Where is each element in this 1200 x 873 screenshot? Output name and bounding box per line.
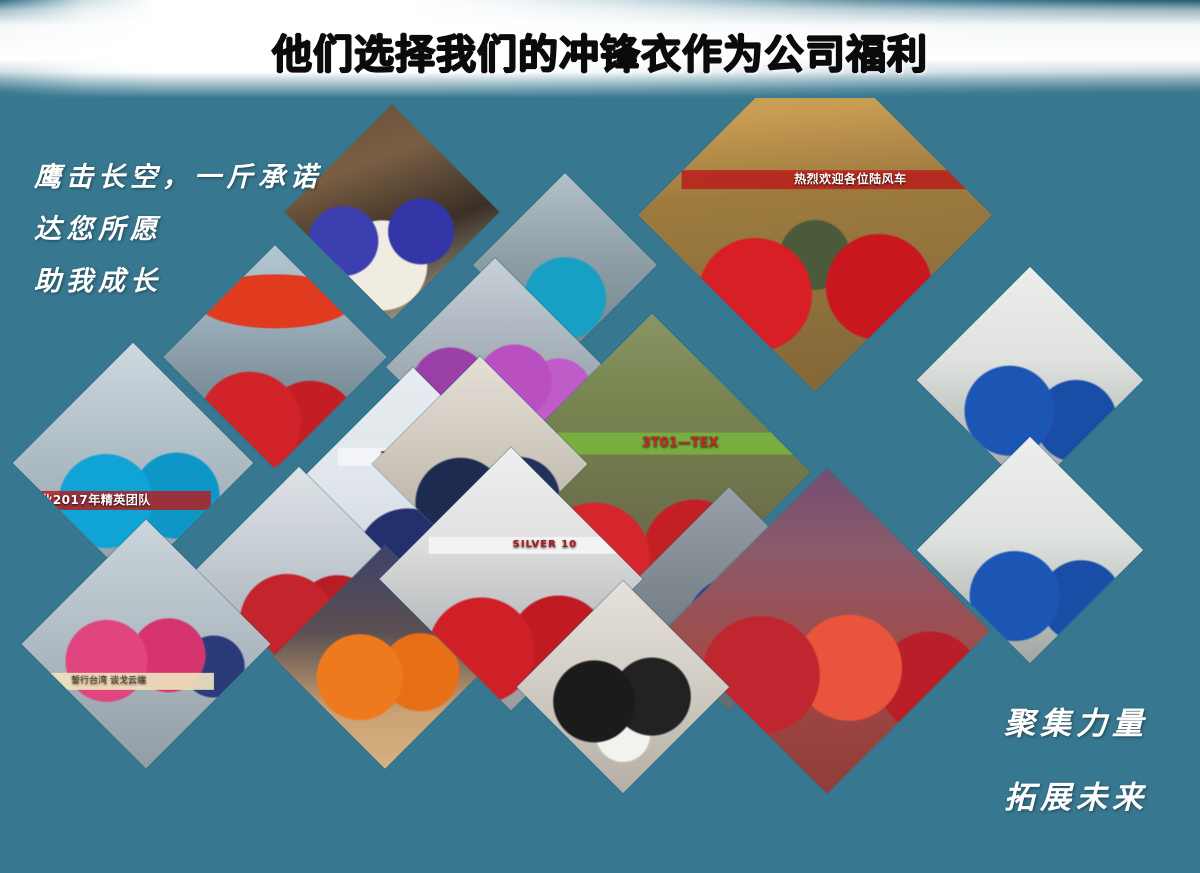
tagline-right-line1: 聚集力量: [1004, 687, 1148, 761]
promo-banner: 热烈欢迎各位陆风车 业2017年精英团队 正广通 ZGT GROUP 3T01—…: [0, 0, 1200, 873]
tagline-right-line2: 拓展未来: [1004, 761, 1148, 835]
tagline-right: 聚集力量 拓展未来: [1004, 687, 1148, 835]
page-title: 他们选择我们的冲锋衣作为公司福利: [0, 22, 1200, 80]
tagline-left-line3: 助我成长: [34, 256, 322, 308]
tagline-left: 鹰击长空，一斤承诺 达您所愿 助我成长: [34, 152, 322, 308]
tagline-left-line1: 鹰击长空，一斤承诺: [34, 152, 322, 204]
tagline-left-line2: 达您所愿: [34, 204, 322, 256]
